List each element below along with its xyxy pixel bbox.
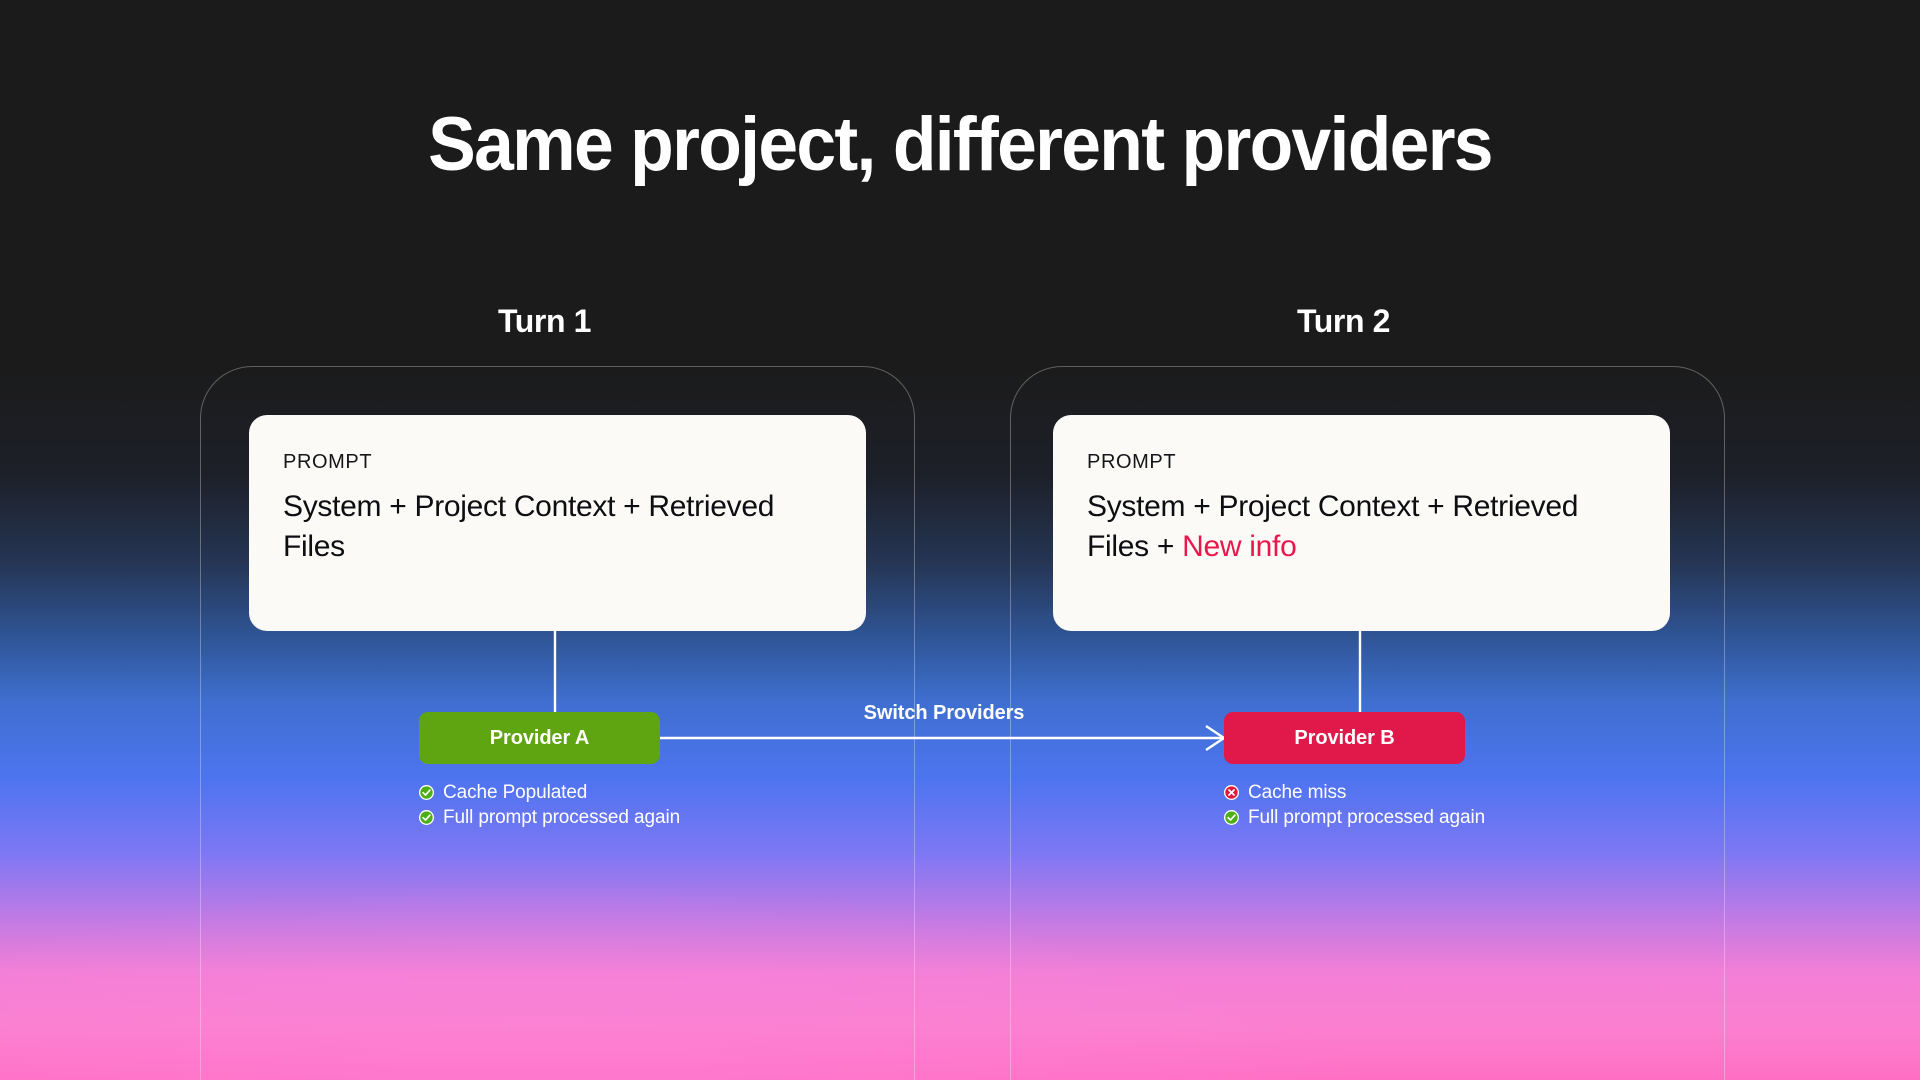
prompt-label: PROMPT [1087,451,1636,474]
check-circle-icon [1224,810,1239,825]
provider-button-b[interactable]: Provider B [1224,712,1465,764]
switch-providers-label: Switch Providers [660,702,1228,725]
list-item: Cache Populated [419,780,680,805]
prompt-text: System + Project Context + Retrieved Fil… [283,487,832,567]
check-circle-icon [419,810,434,825]
turn-label-1: Turn 1 [498,303,591,340]
bullet-list-turn-2: Cache miss Full prompt processed again [1224,780,1485,830]
prompt-text-highlight: New info [1182,530,1296,563]
list-item: Full prompt processed again [419,805,680,830]
list-item: Cache miss [1224,780,1485,805]
bullet-list-turn-1: Cache Populated Full prompt processed ag… [419,780,680,830]
provider-button-a-label: Provider A [490,727,589,750]
prompt-card-turn-2: PROMPT System + Project Context + Retrie… [1053,415,1670,631]
arrow-right-icon [660,722,1228,754]
check-circle-icon [419,785,434,800]
prompt-text-base: System + Project Context + Retrieved Fil… [283,490,774,563]
prompt-label: PROMPT [283,451,832,474]
prompt-text-base: System + Project Context + Retrieved Fil… [1087,490,1578,563]
prompt-card-turn-1: PROMPT System + Project Context + Retrie… [249,415,866,631]
bullet-text: Cache miss [1248,782,1346,804]
bullet-text: Cache Populated [443,782,587,804]
page-title: Same project, different providers [58,107,1863,183]
turn-label-2: Turn 2 [1297,303,1390,340]
bullet-text: Full prompt processed again [1248,807,1485,829]
provider-button-b-label: Provider B [1294,727,1394,750]
prompt-text: System + Project Context + Retrieved Fil… [1087,487,1636,567]
list-item: Full prompt processed again [1224,805,1485,830]
x-circle-icon [1224,785,1239,800]
bullet-text: Full prompt processed again [443,807,680,829]
provider-button-a[interactable]: Provider A [419,712,660,764]
